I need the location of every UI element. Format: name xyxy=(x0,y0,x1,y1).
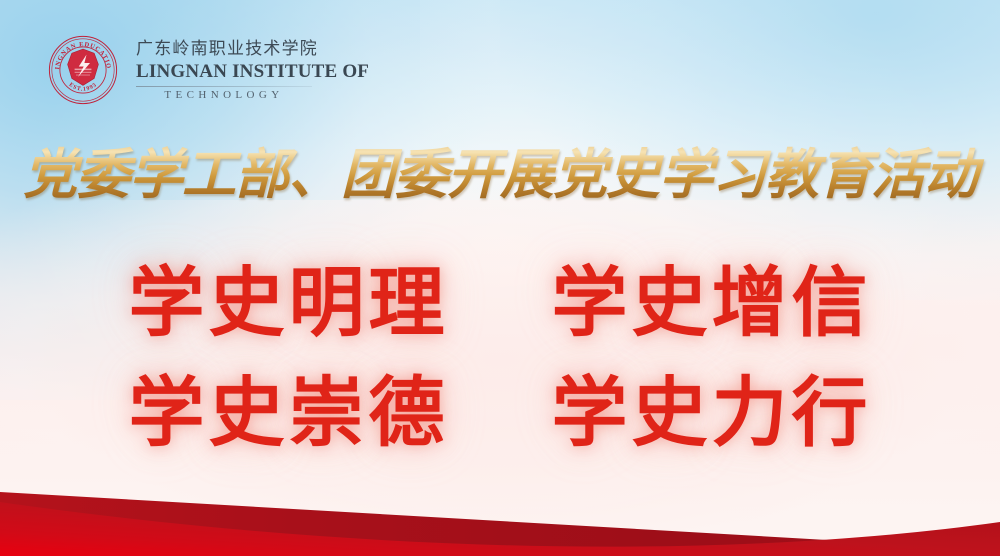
institution-name-cn: 广东岭南职业技术学院 xyxy=(136,39,369,60)
slogan-xue-shi-ming-li: 学史明理 xyxy=(129,258,449,347)
lingnan-seal-logo-icon: LINGNAN EDUCATION EST.1993 xyxy=(48,35,118,105)
institution-name-en-line2: TECHNOLOGY xyxy=(136,89,312,101)
slogan-line-1: 学史明理 学史增信 xyxy=(0,248,1000,358)
institution-wordmark: 广东岭南职业技术学院 LINGNAN INSTITUTE OF TECHNOLO… xyxy=(134,39,369,100)
poster-banner: LINGNAN EDUCATION EST.1993 广东岭南职业技术学院 LI… xyxy=(0,0,1000,556)
wordmark-divider xyxy=(136,86,312,87)
institution-name-en-line1: LINGNAN INSTITUTE OF xyxy=(136,61,369,83)
bottom-red-ribbon xyxy=(0,446,1000,556)
slogan-xue-shi-li-xing: 学史力行 xyxy=(551,368,871,457)
slogan-xue-shi-zeng-xin: 学史增信 xyxy=(551,258,871,347)
slogan-block: 学史明理 学史增信 学史崇德 学史力行 xyxy=(0,248,1000,468)
slogan-xue-shi-chong-de: 学史崇德 xyxy=(129,368,449,457)
page-title: 党委学工部、团委开展党史学习教育活动 xyxy=(0,143,1000,207)
institution-header: LINGNAN EDUCATION EST.1993 广东岭南职业技术学院 LI… xyxy=(48,32,369,108)
